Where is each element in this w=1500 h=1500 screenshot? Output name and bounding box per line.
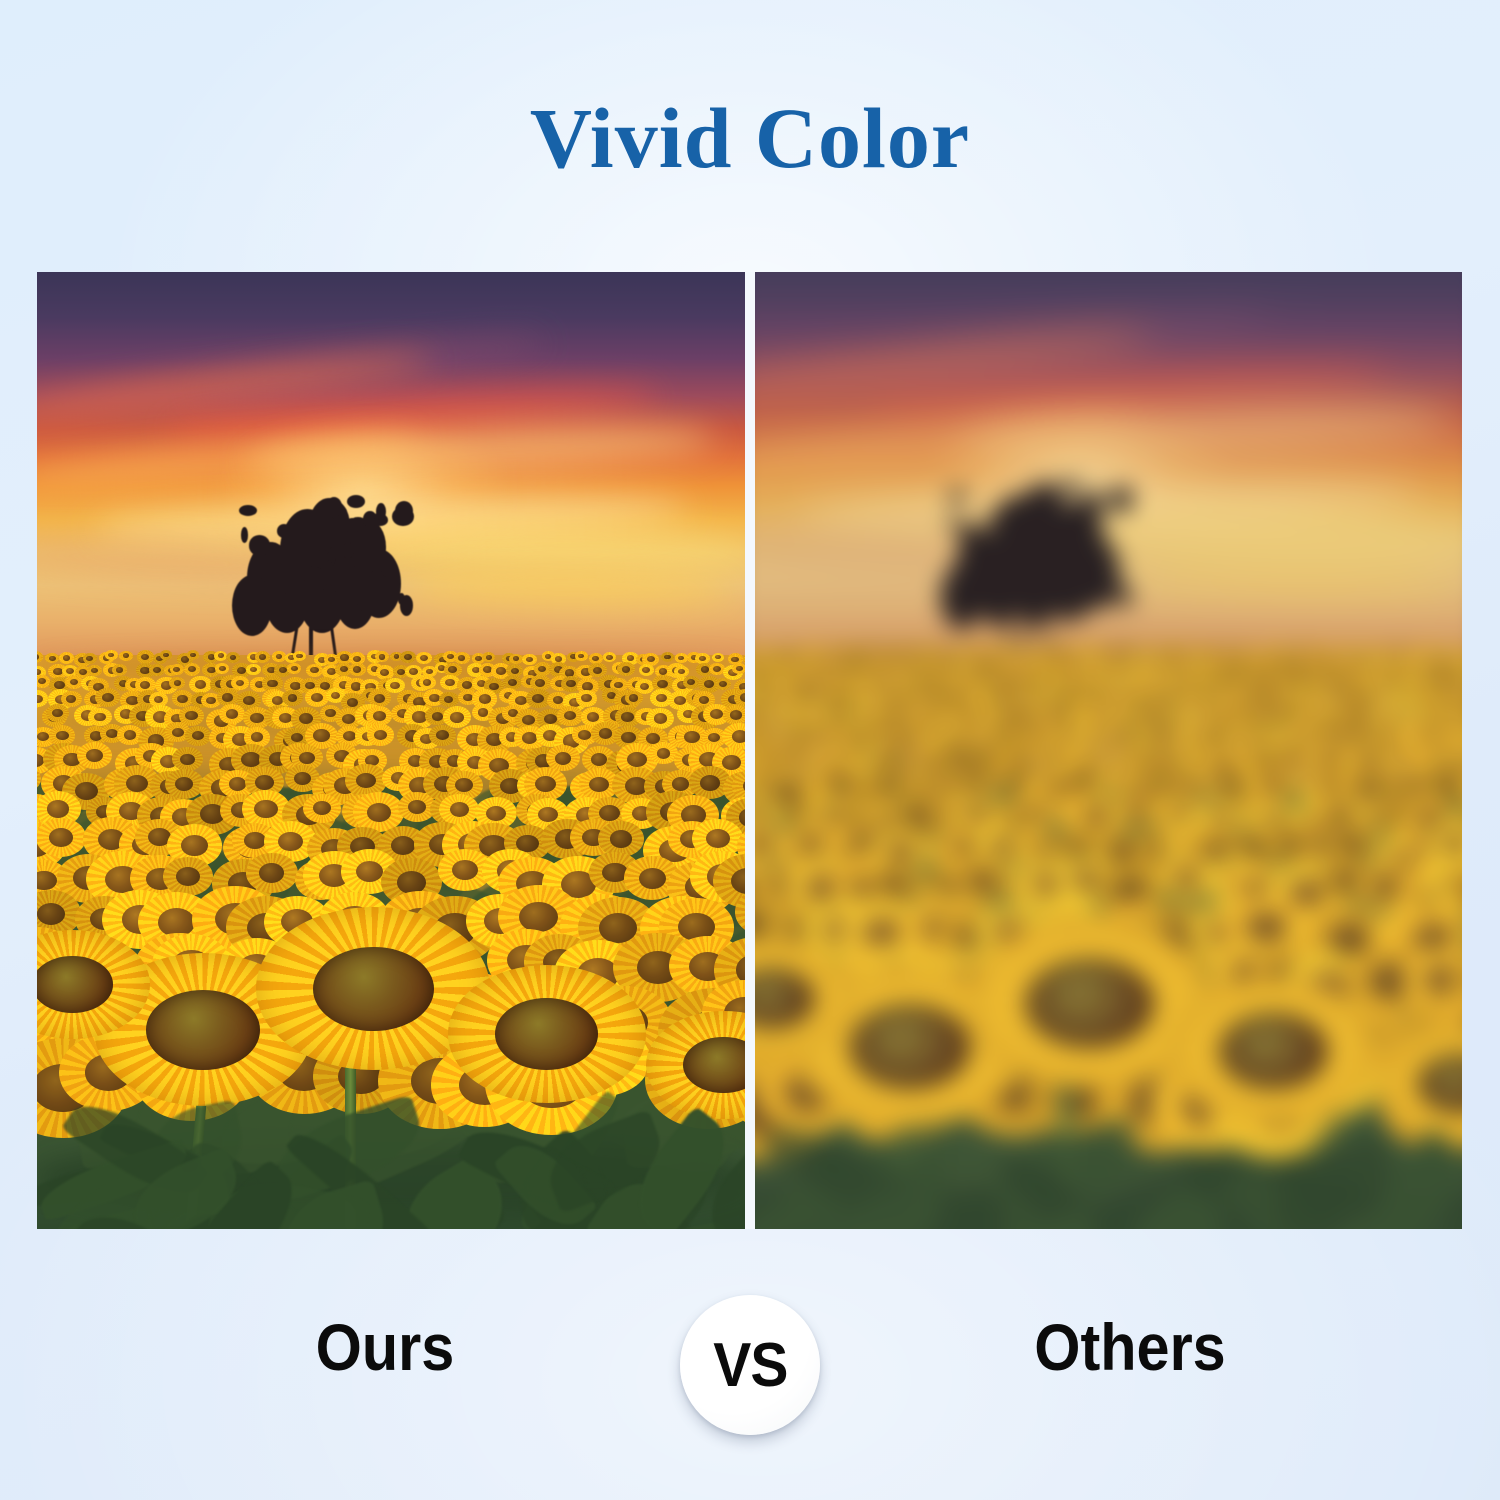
sunflower xyxy=(95,688,120,707)
sunflower-disc xyxy=(1219,1013,1328,1089)
sunflower xyxy=(923,658,938,669)
sunflower xyxy=(172,747,203,771)
sunflower xyxy=(557,706,582,726)
label-others: Others xyxy=(788,1314,1472,1380)
sunflower xyxy=(65,675,83,689)
sunflower xyxy=(722,723,745,750)
sunflower xyxy=(293,651,306,661)
cloud-streak xyxy=(1078,506,1462,560)
sunflower xyxy=(454,652,469,664)
sunflower xyxy=(891,724,918,745)
sunflower xyxy=(853,658,870,671)
sunflower xyxy=(874,673,891,686)
sunflower xyxy=(1303,645,1316,655)
image-ours[interactable] xyxy=(37,272,745,1229)
sunflower xyxy=(184,663,201,676)
sunflower xyxy=(639,664,654,676)
sunflower xyxy=(732,663,745,674)
sunflower xyxy=(231,676,249,690)
sunflower xyxy=(1175,646,1191,659)
label-ours: Ours xyxy=(39,1314,732,1380)
sunflower-disc xyxy=(849,1004,970,1088)
sunflower xyxy=(867,863,920,904)
sunflower xyxy=(1015,796,1055,827)
sunflower xyxy=(400,651,416,663)
sunflower xyxy=(877,747,909,772)
sunflower xyxy=(675,653,688,663)
page-background: Vivid Color Ours Others VS xyxy=(0,0,1500,1500)
sunflower xyxy=(864,644,877,654)
sunflower xyxy=(934,646,949,658)
sunflower xyxy=(1118,645,1134,658)
sunflower xyxy=(303,794,341,823)
sunflower xyxy=(813,658,830,671)
sunflower xyxy=(576,690,597,707)
sunflower xyxy=(1408,661,1423,673)
sunflower xyxy=(575,651,588,661)
sunflower xyxy=(306,664,323,677)
sunflower xyxy=(787,660,802,672)
sunflower xyxy=(1064,658,1082,672)
sunflower xyxy=(1371,659,1387,671)
sunflower xyxy=(1417,671,1435,685)
sunflower xyxy=(77,742,112,769)
sunflower xyxy=(763,670,782,685)
sunflower xyxy=(723,705,745,725)
sunflower xyxy=(839,644,857,658)
sunflower-foreground xyxy=(1168,978,1378,1125)
sunflower xyxy=(429,725,455,745)
sunflower xyxy=(1135,646,1152,659)
sunflower xyxy=(759,687,781,704)
comparison-frame xyxy=(37,272,1462,1229)
sunflower xyxy=(1304,686,1327,704)
sunflower xyxy=(983,645,997,656)
sunflower xyxy=(788,705,813,724)
sunflower xyxy=(895,671,919,689)
sunflower xyxy=(939,672,958,687)
sunflower xyxy=(1233,648,1247,659)
sunflower xyxy=(61,691,82,707)
sunflower xyxy=(796,684,822,704)
sunflower xyxy=(137,650,154,663)
sunflower xyxy=(112,664,128,676)
sunflower xyxy=(349,663,366,676)
sunflower xyxy=(1149,723,1177,745)
sunflower xyxy=(37,818,86,857)
sunflower xyxy=(246,853,298,894)
cloud-streak xyxy=(405,570,731,609)
sunflower xyxy=(187,650,199,659)
sunflower xyxy=(993,687,1015,704)
image-divider xyxy=(745,272,755,1229)
sunflower-disc xyxy=(313,947,434,1032)
sunflower xyxy=(1449,647,1461,657)
sunflower xyxy=(219,704,245,724)
sunflower xyxy=(439,692,458,707)
sunflower xyxy=(1394,646,1407,657)
sunflower xyxy=(777,742,814,771)
sunflower xyxy=(185,726,211,746)
sunflower-disc xyxy=(37,956,113,1012)
sunflower xyxy=(1138,671,1156,685)
sunflower xyxy=(172,690,194,707)
image-others[interactable] xyxy=(755,272,1462,1229)
tree-silhouette xyxy=(228,487,412,669)
tree-silhouette xyxy=(936,472,1131,665)
sunflower xyxy=(1439,701,1462,723)
sunflower-field xyxy=(755,649,1462,1229)
page-title: Vivid Color xyxy=(0,95,1500,181)
sunflower xyxy=(59,652,74,664)
sunflower-disc xyxy=(495,998,598,1070)
sunflower xyxy=(367,724,395,746)
sunflower xyxy=(1356,687,1376,703)
sunflower-field xyxy=(37,655,745,1229)
sunflower xyxy=(598,821,644,857)
sunflower xyxy=(170,664,184,675)
cloud-streak xyxy=(362,520,745,571)
sunflower xyxy=(105,650,117,660)
vs-badge: VS xyxy=(680,1295,820,1435)
sunflower xyxy=(625,691,644,706)
sunflower xyxy=(926,701,954,723)
sunflower xyxy=(1459,721,1462,750)
sunflower xyxy=(661,652,674,662)
sunflower xyxy=(1285,703,1312,724)
sunflower xyxy=(1005,645,1018,656)
cloud-streak xyxy=(1123,559,1462,600)
sunflower xyxy=(1159,688,1180,704)
sunflower xyxy=(757,646,773,659)
sunflower xyxy=(165,769,204,799)
sunflower xyxy=(955,859,1010,902)
sunflower xyxy=(119,651,132,661)
sunflower xyxy=(821,645,835,656)
sunflower xyxy=(922,645,935,656)
sunflower xyxy=(715,678,731,690)
sunflower xyxy=(674,666,689,677)
vs-badge-label: VS xyxy=(713,1330,787,1401)
sunflower-disc xyxy=(1025,958,1154,1048)
sunflower xyxy=(712,653,724,662)
sunflower xyxy=(1409,647,1422,657)
sunflower xyxy=(1083,723,1112,746)
sunflower xyxy=(163,857,213,896)
sunflower xyxy=(683,676,700,689)
sunflower xyxy=(87,665,101,676)
sunflower xyxy=(874,658,889,670)
sunflower xyxy=(1328,825,1377,863)
sunflower xyxy=(272,651,286,662)
sunflower xyxy=(189,676,211,693)
sunflower xyxy=(889,657,907,671)
sunflower xyxy=(37,690,48,707)
sunflower xyxy=(509,654,523,665)
sunflower xyxy=(419,676,436,689)
sunflower xyxy=(149,664,165,676)
sunflower xyxy=(169,677,185,689)
sunflower xyxy=(282,690,303,706)
sunflower-foreground xyxy=(448,965,646,1103)
sunflower xyxy=(1019,658,1037,672)
sunflower-disc xyxy=(146,990,260,1070)
